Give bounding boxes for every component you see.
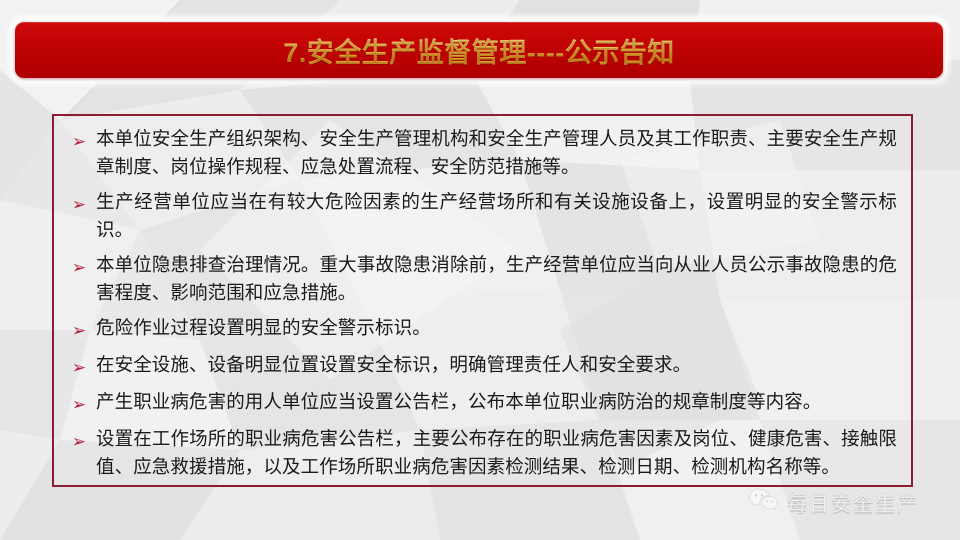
arrow-bullet-icon: ➢ (62, 126, 96, 156)
list-item-text: 本单位安全生产组织架构、安全生产管理机构和安全生产管理人员及其工作职责、主要安全… (96, 126, 897, 182)
list-item: ➢ 生产经营单位应当在有较大危险因素的生产经营场所和有关设施设备上，设置明显的安… (62, 189, 897, 245)
list-item-text: 产生职业病危害的用人单位应当设置公告栏，公布本单位职业病防治的规章制度等内容。 (96, 389, 897, 417)
content-box: ➢ 本单位安全生产组织架构、安全生产管理机构和安全生产管理人员及其工作职责、主要… (52, 114, 913, 487)
arrow-bullet-icon: ➢ (62, 189, 96, 219)
list-item: ➢ 设置在工作场所的职业病危害公告栏，主要公布存在的职业病危害因素及岗位、健康危… (62, 426, 897, 482)
title-banner: 7.安全生产监督管理----公示告知 (15, 22, 943, 78)
list-item-text: 本单位隐患排查治理情况。重大事故隐患消除前，生产经营单位应当向从业人员公示事故隐… (96, 252, 897, 308)
list-item-text: 生产经营单位应当在有较大危险因素的生产经营场所和有关设施设备上，设置明显的安全警… (96, 189, 897, 245)
arrow-bullet-icon: ➢ (62, 352, 96, 382)
arrow-bullet-icon: ➢ (62, 389, 96, 419)
bullet-list: ➢ 本单位安全生产组织架构、安全生产管理机构和安全生产管理人员及其工作职责、主要… (62, 126, 897, 482)
list-item-text: 在安全设施、设备明显位置设置安全标识，明确管理责任人和安全要求。 (96, 352, 897, 380)
watermark: 每日安全生产 (748, 487, 919, 517)
page-title: 7.安全生产监督管理----公示告知 (283, 31, 674, 70)
list-item-text: 危险作业过程设置明显的安全警示标识。 (96, 315, 897, 343)
list-item: ➢ 产生职业病危害的用人单位应当设置公告栏，公布本单位职业病防治的规章制度等内容… (62, 389, 897, 419)
arrow-bullet-icon: ➢ (62, 252, 96, 282)
slide-canvas: 7.安全生产监督管理----公示告知 ➢ 本单位安全生产组织架构、安全生产管理机… (0, 0, 960, 540)
arrow-bullet-icon: ➢ (62, 315, 96, 345)
list-item: ➢ 本单位安全生产组织架构、安全生产管理机构和安全生产管理人员及其工作职责、主要… (62, 126, 897, 182)
list-item: ➢ 本单位隐患排查治理情况。重大事故隐患消除前，生产经营单位应当向从业人员公示事… (62, 252, 897, 308)
arrow-bullet-icon: ➢ (62, 426, 96, 456)
wechat-icon (748, 487, 778, 517)
list-item: ➢ 在安全设施、设备明显位置设置安全标识，明确管理责任人和安全要求。 (62, 352, 897, 382)
list-item-text: 设置在工作场所的职业病危害公告栏，主要公布存在的职业病危害因素及岗位、健康危害、… (96, 426, 897, 482)
watermark-label: 每日安全生产 (787, 488, 919, 517)
list-item: ➢ 危险作业过程设置明显的安全警示标识。 (62, 315, 897, 345)
